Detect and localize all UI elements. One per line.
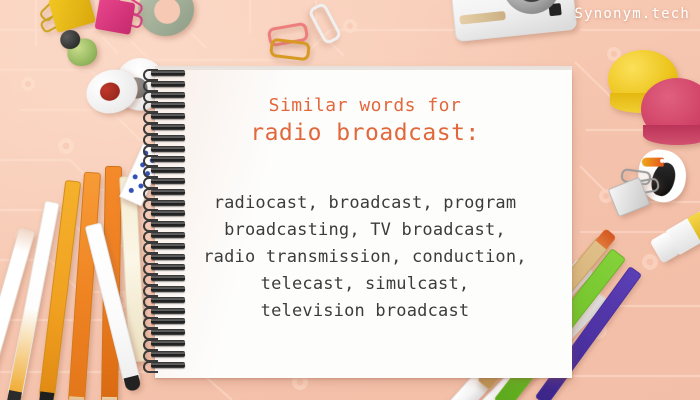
note-heading-line2: radio broadcast: <box>175 119 555 148</box>
synonym-line: radio transmission, conduction, <box>175 244 555 271</box>
spiral-ring <box>143 70 187 77</box>
note-content: Similar words for radio broadcast: radio… <box>175 86 555 325</box>
bird-eraser <box>58 24 103 69</box>
screenshot-canvas: Similar words for radio broadcast: radio… <box>0 0 700 400</box>
synonym-line: radiocast, broadcast, program <box>175 190 555 217</box>
synonym-line: telecast, simulcast, <box>175 271 555 298</box>
note-heading-line1: Similar words for <box>175 95 555 117</box>
spiral-ring <box>143 362 187 369</box>
binder-clip-pink <box>94 0 135 35</box>
synonym-word-list: radiocast, broadcast, programbroadcastin… <box>175 190 555 325</box>
spiral-ring <box>143 340 187 347</box>
spiral-ring <box>143 329 187 336</box>
synonym-line: broadcasting, TV broadcast, <box>175 217 555 244</box>
macaron-pink <box>641 78 700 140</box>
synonym-line: television broadcast <box>175 298 555 325</box>
spiral-ring <box>143 351 187 358</box>
site-logo: Synonym.tech <box>574 6 690 22</box>
